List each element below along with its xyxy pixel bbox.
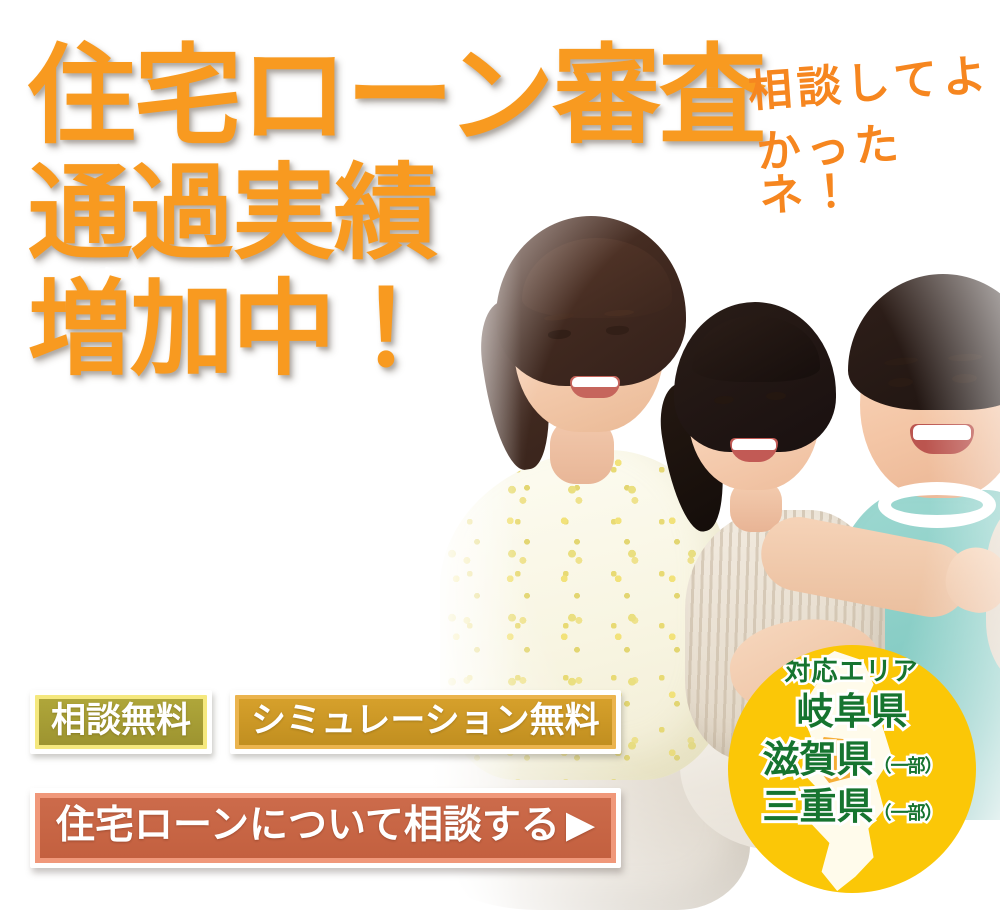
mother-eye-left	[548, 329, 572, 340]
mother-eyebrow-right	[604, 309, 634, 317]
father-collar	[878, 482, 996, 528]
mother-hair	[496, 216, 686, 386]
prefecture-2-note: （一部）	[874, 756, 942, 776]
father-hair	[848, 274, 1000, 410]
father-shoulder	[986, 502, 1000, 682]
consult-cta-frame: 住宅ローンについて相談する ▶	[35, 793, 616, 863]
prefecture-3-note: （一部）	[874, 803, 942, 823]
consult-cta-button[interactable]: 住宅ローンについて相談する ▶	[30, 788, 621, 868]
service-area-badge: 対応エリア 岐阜県 滋賀県（一部） 三重県（一部）	[728, 645, 976, 893]
badge-free-simulation: シミュレーション無料	[230, 690, 621, 754]
service-area-text: 対応エリア 岐阜県 滋賀県（一部） 三重県（一部）	[728, 645, 976, 829]
father-eyebrow-left	[884, 356, 919, 367]
headline-line-2: 通過実績	[28, 162, 765, 266]
consult-cta-label: 住宅ローンについて相談する	[56, 805, 560, 848]
handwritten-note-line-1: 相談してよ	[747, 53, 1000, 114]
mother-neck	[550, 418, 614, 484]
headline: 住宅ローン審査 通過実績 増加中！	[28, 42, 765, 382]
child-eye-left	[714, 395, 735, 404]
father-eye-right	[952, 374, 977, 384]
loan-promo-banner: 住宅ローン審査 通過実績 増加中！ 相談してよ かったネ！ 相談無料 シミュレー…	[0, 0, 1000, 910]
child-bangs	[692, 316, 820, 382]
feature-badge-row: 相談無料 シミュレーション無料	[30, 690, 621, 754]
badge-free-consultation-label: 相談無料	[39, 699, 203, 745]
mother-hair-side	[473, 296, 561, 474]
handwritten-note-line-2: かったネ！	[756, 117, 1000, 220]
child-arm	[755, 511, 975, 624]
headline-line-1: 住宅ローン審査	[28, 42, 765, 150]
child-hair-side	[653, 378, 734, 535]
child-eye-right	[766, 392, 786, 401]
child-neck	[730, 480, 782, 532]
father-smile	[910, 424, 974, 454]
badge-free-simulation-frame: シミュレーション無料	[235, 695, 616, 749]
child-smile	[730, 438, 778, 462]
mother-bangs	[522, 238, 672, 318]
service-area-heading: 対応エリア	[728, 657, 976, 686]
father-eyebrow-right	[948, 353, 982, 362]
mother-smile	[570, 376, 620, 398]
child-hair	[674, 302, 836, 452]
play-arrow-icon: ▶	[566, 806, 595, 844]
child-hand	[938, 541, 1000, 620]
headline-line-3: 増加中！	[28, 278, 765, 382]
service-area-prefecture-3: 三重県（一部）	[728, 786, 976, 829]
service-area-prefecture-2: 滋賀県（一部）	[728, 739, 976, 782]
mother-face	[514, 246, 664, 432]
prefecture-1-name: 岐阜県	[797, 691, 908, 732]
prefecture-3-name: 三重県	[763, 786, 874, 827]
service-area-prefecture-1: 岐阜県	[728, 691, 976, 734]
mother-eyebrow-left	[544, 312, 575, 322]
badge-free-consultation-frame: 相談無料	[35, 695, 207, 749]
badge-free-consultation: 相談無料	[30, 690, 212, 754]
child-face	[688, 328, 820, 490]
prefecture-2-name: 滋賀県	[763, 739, 874, 780]
consult-cta-face[interactable]: 住宅ローンについて相談する ▶	[40, 798, 611, 858]
mother-eye-right	[606, 325, 629, 335]
handwritten-note: 相談してよ かったネ！	[748, 62, 1000, 212]
father-face	[860, 302, 1000, 498]
badge-free-simulation-label: シミュレーション無料	[239, 699, 612, 745]
father-eye-left	[888, 377, 914, 388]
